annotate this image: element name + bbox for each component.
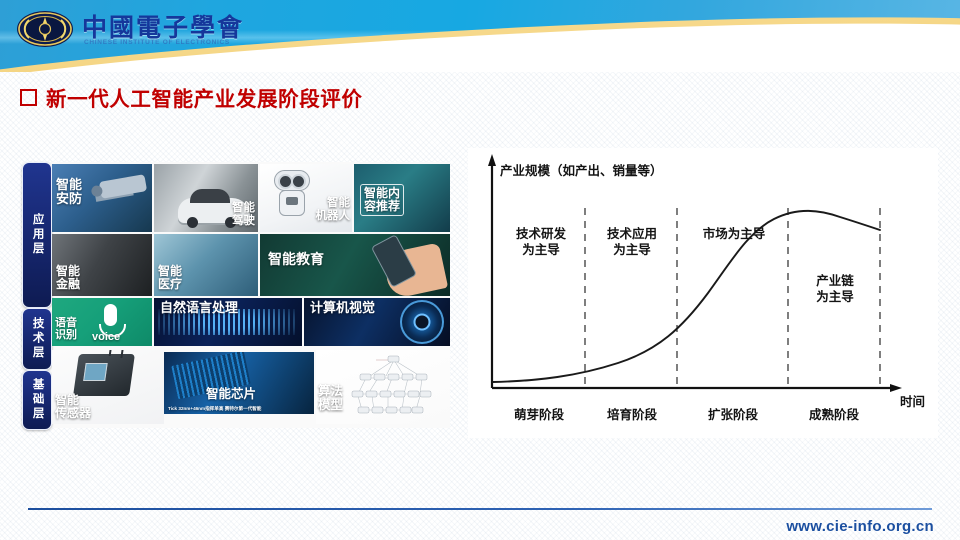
robot-icon [274,170,310,191]
voice-caption: voice [92,332,120,344]
footer-divider [28,508,932,510]
camera-icon [99,174,147,199]
stage-label-embryonic: 萌芽阶段 [492,404,586,423]
robot-body [279,190,305,216]
industry-lifecycle-chart: 产业规模（如产出、销量等） 时间 技术研发 为主导 技术应用 为主导 市场为主导… [468,148,938,438]
smart-driving-caption: 智能 驾驶 [232,202,255,227]
stage-label-maturity: 成熟阶段 [788,404,880,423]
technology-layer-label: 技术层 [30,317,43,361]
page-title-text: 新一代人工智能产业发展阶段评价 [46,82,363,112]
tile-nlp: 自然语言处理 [154,298,302,346]
tile-speech-recognition: 语音 识别 voice [52,298,152,346]
speech-recognition-caption: 语音 识别 [55,318,77,342]
stage-label-expansion: 扩张阶段 [680,404,786,423]
tile-smart-driving: 智能 驾驶 [154,164,258,232]
smart-robot-caption: 智能 机器人 [316,197,351,222]
cie-emblem-icon [16,8,74,50]
stage-label-incubation: 培育阶段 [586,404,678,423]
organization-subtitle: CHINESE INSTITUTE OF ELECTRONICS [84,39,230,46]
smart-security-caption: 智能 安防 [56,178,82,206]
tile-algorithm-model: 算法 模型 [316,350,450,424]
annotation-value-chain-driven: 产业链 为主导 [798,273,872,305]
ai-industry-layer-figure: 应用层 技术层 基础层 智能 安防 智能 驾驶 [22,162,450,428]
smart-finance-caption: 智能 金融 [56,265,80,291]
tile-smart-healthcare: 智能 医疗 [154,234,258,296]
smart-sensor-caption: 智能 传感器 [55,394,91,420]
footer-website-url: www.cie-info.org.cn [786,518,934,535]
tile-smart-finance: 智能 金融 [52,234,152,296]
organization-logo: 中國電子學會 CHINESE INSTITUTE OF ELECTRONICS [16,6,286,56]
smart-chip-caption: 智能芯片 [206,388,256,402]
square-bullet-icon [20,89,37,106]
sensor-device-icon [73,354,135,396]
layer-spine: 应用层 技术层 基础层 [22,162,50,428]
computer-vision-caption: 计算机视觉 [310,301,375,315]
smart-education-caption: 智能教育 [268,252,324,267]
tile-smart-sensor: 智能 传感器 [52,350,164,424]
smart-healthcare-caption: 智能 医疗 [158,265,182,291]
sidebar-item-application-layer: 应用层 [22,162,52,308]
eye-icon [400,300,444,344]
tile-grid: 智能 安防 智能 驾驶 智能 机器人 智能内 容推荐 智能 金融 [52,162,450,428]
content-recommendation-caption: 智能内 容推荐 [360,184,404,216]
annotation-market-driven: 市场为主导 [684,226,784,242]
tile-smart-education: 智能教育 [260,234,450,296]
chart-x-axis-label: 时间 [900,391,925,410]
tile-computer-vision: 计算机视觉 [304,298,450,346]
tile-smart-security: 智能 安防 [52,164,152,232]
annotation-rd-driven: 技术研发 为主导 [500,226,582,258]
tile-smart-robot: 智能 机器人 [260,164,352,232]
chart-y-axis-label: 产业规模（如产出、销量等） [500,160,663,179]
slide: 中國電子學會 CHINESE INSTITUTE OF ELECTRONICS … [0,0,960,540]
algorithm-model-caption: 算法 模型 [318,385,343,412]
chip-subtitle-caption: Tick 32nm+46nm指挥单高 赛特尔第一代智能 [168,407,261,412]
annotation-application-driven: 技术应用 为主导 [592,226,672,258]
page-title: 新一代人工智能产业发展阶段评价 [20,82,363,112]
nlp-caption: 自然语言处理 [160,301,238,315]
foundation-layer-label: 基础层 [30,378,43,422]
application-layer-label: 应用层 [30,213,43,257]
sidebar-item-technology-layer: 技术层 [22,308,52,370]
sidebar-item-foundation-layer: 基础层 [22,370,52,430]
tile-smart-chip: 智能芯片 Tick 32nm+46nm指挥单高 赛特尔第一代智能 [164,352,314,414]
smart-chip-photo [164,352,314,414]
tile-content-recommendation: 智能内 容推荐 [354,164,450,232]
microphone-icon [104,304,117,326]
